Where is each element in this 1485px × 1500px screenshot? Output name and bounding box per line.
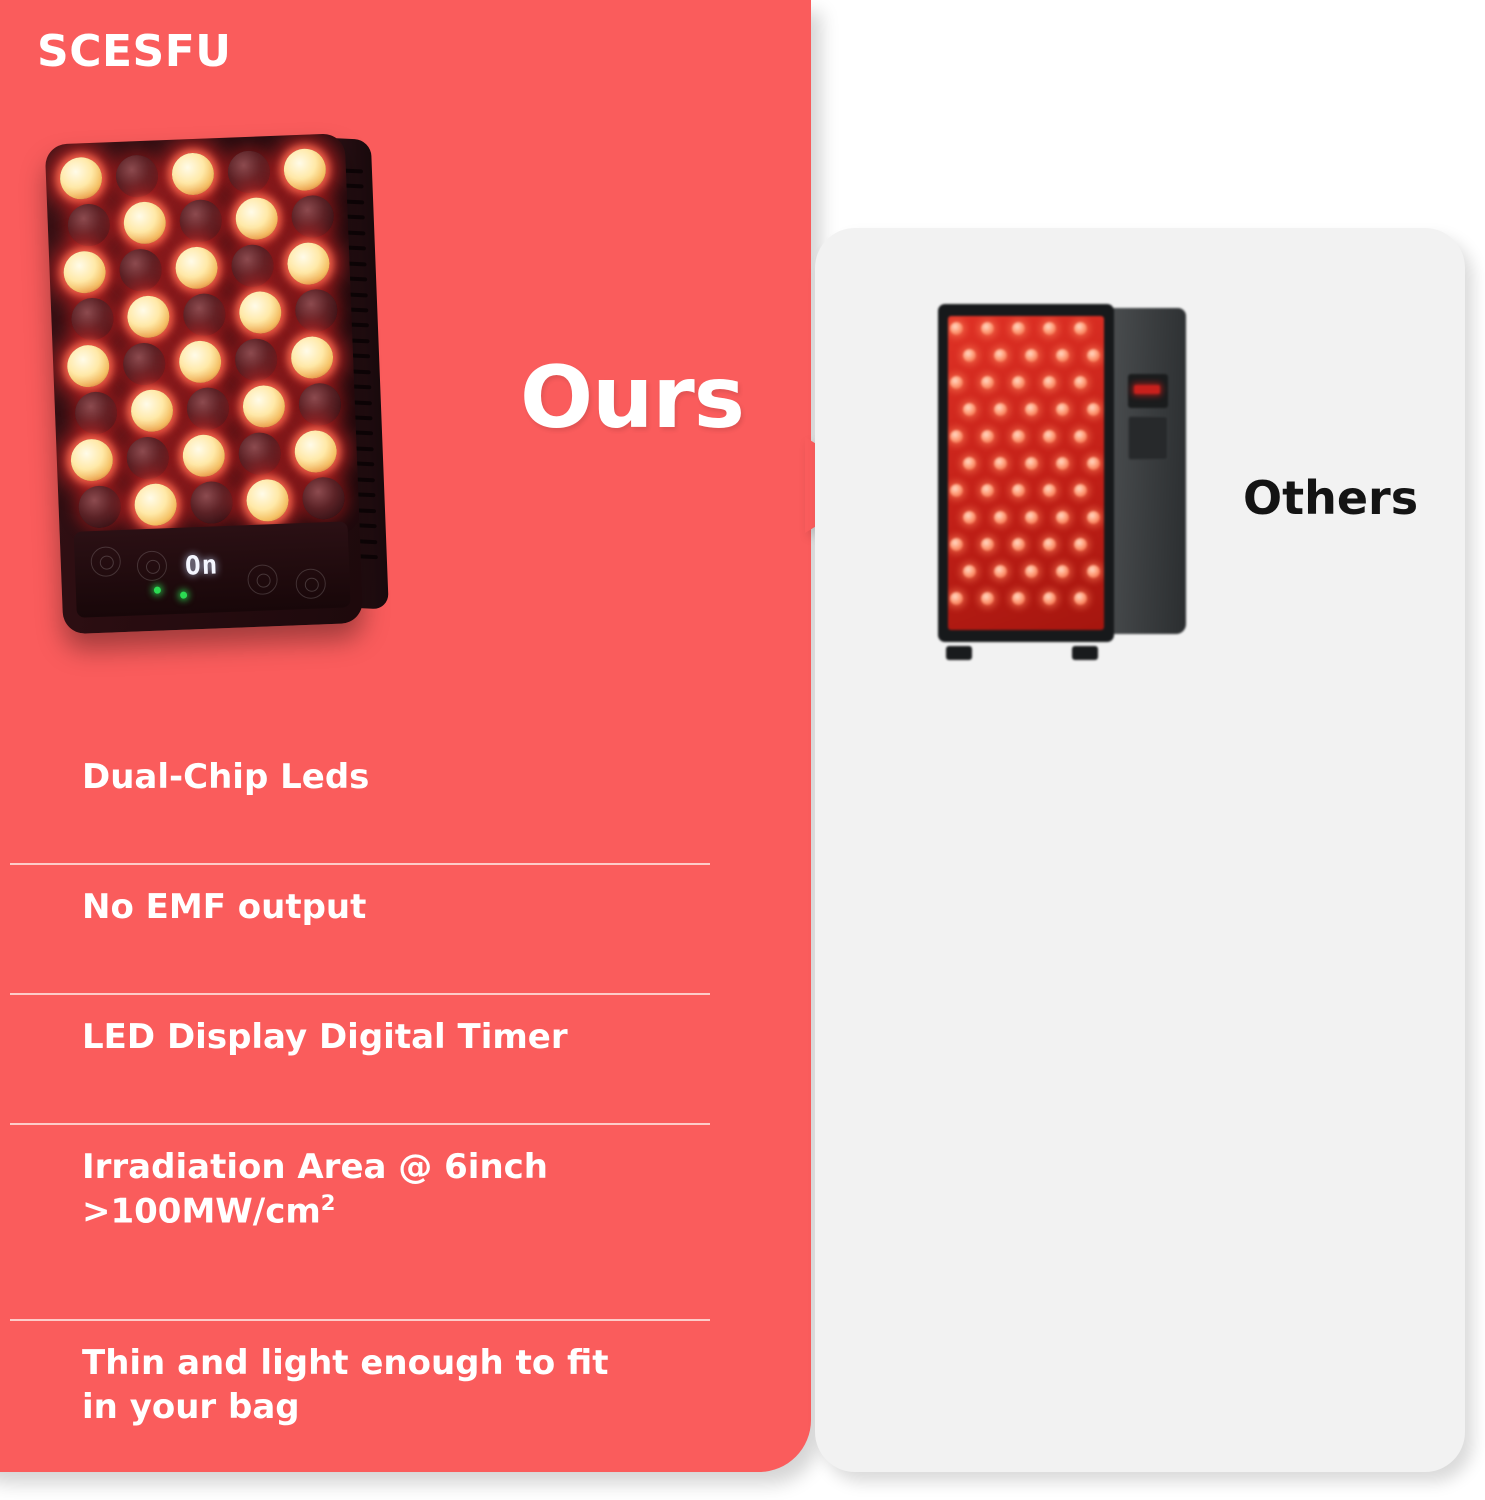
led-lens [78, 485, 122, 529]
others-led-dot [1056, 457, 1069, 470]
led-lens [239, 291, 283, 335]
others-led-dot [994, 349, 1007, 362]
others-led-dot [1056, 403, 1069, 416]
others-led-dot [1074, 322, 1087, 335]
others-led-dot [1043, 484, 1056, 497]
power-button-icon [136, 550, 167, 581]
led-lens [66, 344, 110, 388]
led-lens [183, 293, 227, 337]
device-control-panel: On [74, 521, 351, 617]
led-lens [234, 338, 278, 382]
ours-label: Ours [520, 348, 744, 448]
others-led-dot [981, 592, 994, 605]
ours-feature-list: Dual-Chip LedsNo EMF outputLED Display D… [10, 735, 710, 1500]
feature-label: Irradiation Area @ 6inch>100MW/cm2 [10, 1125, 548, 1234]
led-grid [59, 148, 347, 528]
others-led-dot [994, 511, 1007, 524]
led-lens [127, 295, 171, 339]
others-led-dot [1087, 565, 1100, 578]
others-led-dot [1074, 592, 1087, 605]
brand-logo: SCESFU [37, 26, 232, 77]
others-led-dot [1012, 484, 1025, 497]
others-led-dot [1025, 565, 1038, 578]
others-device-keypad [1128, 416, 1168, 460]
feature-row: Thin and light enough to fitin your bag [10, 1321, 710, 1500]
others-led-dot [1025, 403, 1038, 416]
pulse-button-icon [247, 564, 278, 595]
others-led-dot [1012, 430, 1025, 443]
others-label: Others [1243, 471, 1418, 525]
others-led-dot [994, 403, 1007, 416]
others-led-panel [948, 316, 1104, 630]
led-lens [294, 430, 338, 474]
led-lens [290, 336, 334, 380]
led-lens [291, 195, 335, 239]
feature-label: No EMF output [10, 865, 366, 929]
led-lens [126, 436, 170, 480]
led-lens [246, 479, 290, 523]
others-led-dot [1043, 322, 1056, 335]
others-led-dot [963, 457, 976, 470]
others-led-dot [981, 538, 994, 551]
led-lens [287, 242, 331, 286]
others-led-dot [1043, 538, 1056, 551]
others-led-dot [994, 457, 1007, 470]
comparison-infographic: SCESFU Ours On Dual-Chip LedsNo [0, 0, 1485, 1500]
feature-row: No EMF output [10, 865, 710, 995]
others-led-dot [1087, 403, 1100, 416]
others-led-dot [1012, 592, 1025, 605]
others-led-dot [963, 511, 976, 524]
others-device-front [938, 304, 1114, 642]
others-led-dot [1056, 565, 1069, 578]
led-lens [179, 199, 223, 243]
feature-row: Dual-Chip Leds [10, 735, 710, 865]
others-led-dot [994, 565, 1007, 578]
others-led-dot [1043, 430, 1056, 443]
feature-label: Thin and light enough to fitin your bag [10, 1321, 608, 1429]
led-lens [182, 434, 226, 478]
others-card: Single-Chip LedsHigh EMF outputNo Digita… [815, 228, 1465, 1472]
others-led-dot [950, 430, 963, 443]
led-lens [294, 289, 338, 333]
feature-row: Irradiation Area @ 6inch>100MW/cm2 [10, 1125, 710, 1321]
mode-button-icon [90, 546, 121, 577]
others-led-dot [1012, 376, 1025, 389]
led-lens [238, 432, 282, 476]
others-led-dot [1074, 538, 1087, 551]
led-lens [186, 387, 230, 431]
others-led-dot [1087, 349, 1100, 362]
others-led-dot [950, 592, 963, 605]
led-lens [171, 152, 215, 196]
led-lens [63, 250, 107, 294]
led-lens [298, 383, 342, 427]
status-indicator-1 [154, 587, 161, 594]
others-led-dot [981, 484, 994, 497]
led-lens [67, 203, 111, 247]
others-led-dot [1087, 457, 1100, 470]
ours-card: SCESFU Ours On Dual-Chip LedsNo [0, 0, 811, 1472]
others-device-display [1128, 374, 1168, 408]
led-lens [59, 157, 103, 201]
others-led-dot [1056, 511, 1069, 524]
led-lens [130, 389, 174, 433]
brightness-button-icon [295, 568, 326, 599]
others-led-dot [1012, 322, 1025, 335]
led-lens [134, 483, 178, 527]
others-led-dot [981, 376, 994, 389]
led-lens [302, 476, 346, 520]
led-lens [175, 246, 219, 290]
led-lens [123, 201, 167, 245]
led-lens [283, 148, 327, 192]
feature-label: Dual-Chip Leds [10, 735, 369, 799]
led-lens [235, 197, 279, 241]
led-lens [115, 154, 159, 198]
others-device-foot-right [1072, 646, 1098, 660]
led-lens [74, 391, 118, 435]
led-lens [122, 342, 166, 386]
feature-label: LED Display Digital Timer [10, 995, 568, 1059]
others-led-dot [963, 349, 976, 362]
led-lens [242, 385, 286, 429]
others-led-dot [981, 322, 994, 335]
led-lens [227, 150, 271, 194]
others-led-dot [950, 484, 963, 497]
others-led-dot [1056, 349, 1069, 362]
led-lens [231, 244, 275, 288]
others-led-dot [1087, 511, 1100, 524]
others-led-dot [950, 376, 963, 389]
others-led-dot [1043, 592, 1056, 605]
others-led-dot [1074, 484, 1087, 497]
others-led-dot [950, 322, 963, 335]
led-lens [178, 340, 222, 384]
others-product-image [932, 300, 1192, 652]
others-led-dot [963, 403, 976, 416]
others-led-dot [1025, 511, 1038, 524]
others-led-dot [1074, 430, 1087, 443]
led-lens [71, 297, 115, 341]
others-led-dot [1025, 457, 1038, 470]
ours-product-image: On [38, 121, 407, 644]
others-led-dot [1025, 349, 1038, 362]
digital-display: On [184, 550, 218, 581]
others-led-dot [1012, 538, 1025, 551]
led-lens [119, 248, 163, 292]
others-led-dot [950, 538, 963, 551]
others-device-foot-left [946, 646, 972, 660]
others-led-dot [963, 565, 976, 578]
feature-row: LED Display Digital Timer [10, 995, 710, 1125]
others-led-dot [1074, 376, 1087, 389]
led-lens [190, 481, 234, 525]
others-led-dot [1043, 376, 1056, 389]
status-indicator-2 [180, 592, 187, 599]
others-led-dot [981, 430, 994, 443]
device-body: On [45, 133, 364, 634]
led-lens [70, 438, 114, 482]
